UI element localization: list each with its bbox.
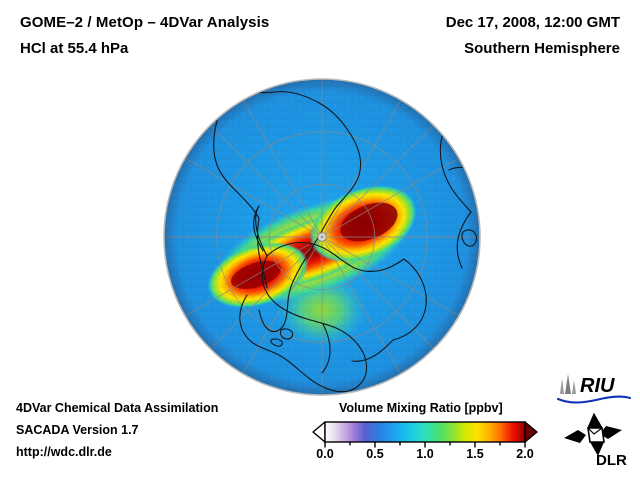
hemisphere-label: Southern Hemisphere: [464, 40, 620, 57]
footer-line-assimilation: 4DVar Chemical Data Assimilation: [16, 401, 218, 415]
south-pole-marker: [318, 233, 326, 241]
colorbar: [311, 420, 539, 450]
timestamp-label: Dec 17, 2008, 12:00 GMT: [446, 14, 620, 31]
colorbar-over-arrow: [525, 422, 537, 442]
page-title-instrument: GOME–2 / MetOp – 4DVar Analysis: [20, 14, 269, 31]
colorbar-title: Volume Mixing Ratio [ppbv]: [339, 401, 503, 415]
riu-swoosh-icon: [558, 397, 630, 403]
riu-towers-icon: [560, 374, 576, 394]
colorbar-tick-3: 1.5: [466, 447, 483, 461]
dlr-wordmark: DLR: [596, 452, 627, 468]
colorbar-tick-1: 0.5: [366, 447, 383, 461]
colorbar-tick-labels: 0.00.51.01.52.0: [300, 447, 550, 467]
globe-svg: [163, 78, 481, 396]
dlr-pinwheel-icon: [564, 414, 622, 456]
footer-line-url: http://wdc.dlr.de: [16, 445, 112, 459]
colorbar-under-arrow: [313, 422, 325, 442]
page-title-species: HCl at 55.4 hPa: [20, 40, 128, 57]
colorbar-tick-2: 1.0: [416, 447, 433, 461]
colorbar-ramp: [325, 422, 525, 442]
colorbar-tick-4: 2.0: [516, 447, 533, 461]
riu-logo: RIU: [556, 372, 632, 406]
footer-line-version: SACADA Version 1.7: [16, 423, 139, 437]
colorbar-tick-0: 0.0: [316, 447, 333, 461]
polar-map: [163, 78, 481, 396]
riu-wordmark: RIU: [580, 375, 615, 397]
dlr-logo: DLR: [558, 412, 632, 468]
